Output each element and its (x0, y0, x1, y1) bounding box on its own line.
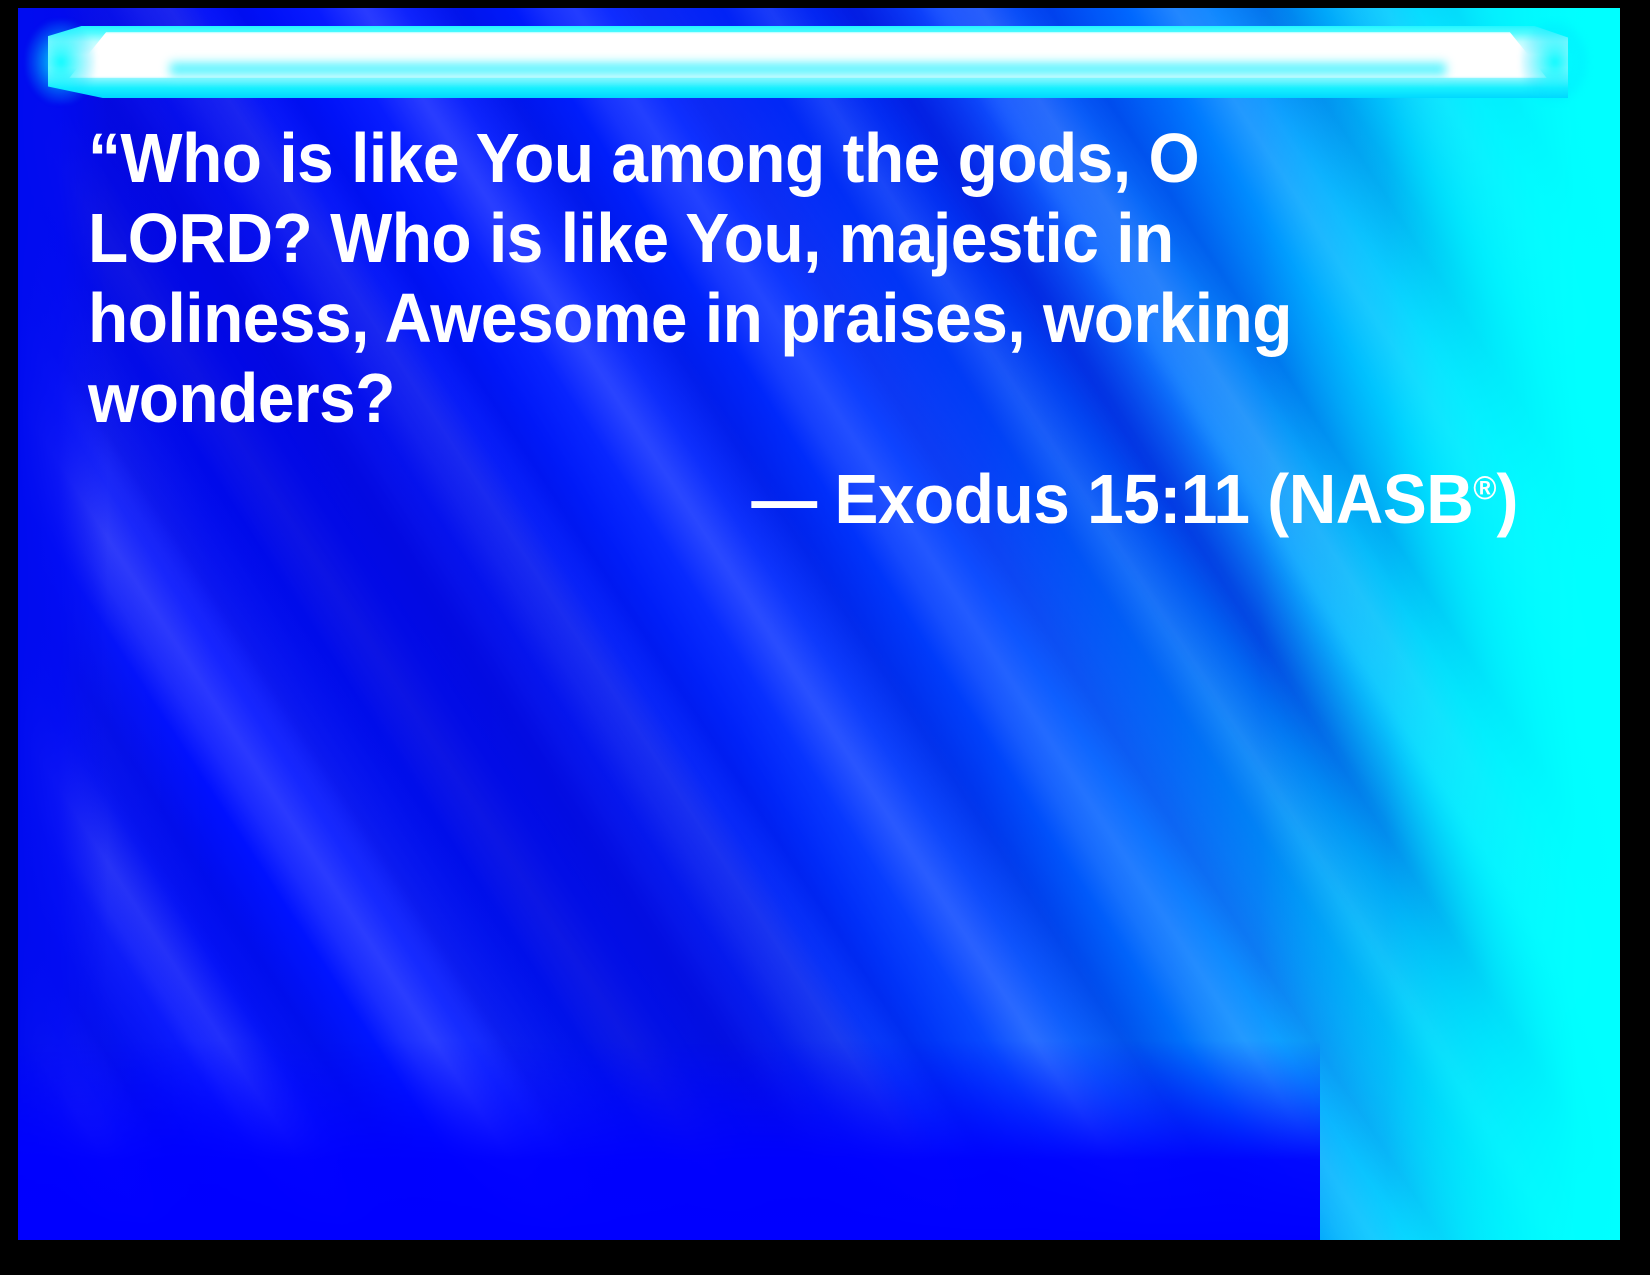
verse-text-block: “Who is like You among the gods, O LORD?… (88, 118, 1518, 538)
registered-trademark-icon: ® (1473, 469, 1496, 506)
band-left-glow (26, 20, 96, 104)
verse-attribution: — Exodus 15:11 (NASB®) (174, 439, 1518, 538)
attribution-prefix: — Exodus 15:11 (NASB (751, 460, 1473, 538)
verse-quote-text: “Who is like You among the gods, O LORD?… (88, 118, 1432, 439)
top-highlight-band (48, 26, 1568, 98)
attribution-close-paren: ) (1497, 460, 1518, 538)
band-right-glow (1520, 20, 1590, 104)
background-bottom-wash (18, 1040, 1320, 1240)
band-cyan-core-glow (170, 60, 1447, 78)
verse-slide: “Who is like You among the gods, O LORD?… (0, 0, 1650, 1275)
